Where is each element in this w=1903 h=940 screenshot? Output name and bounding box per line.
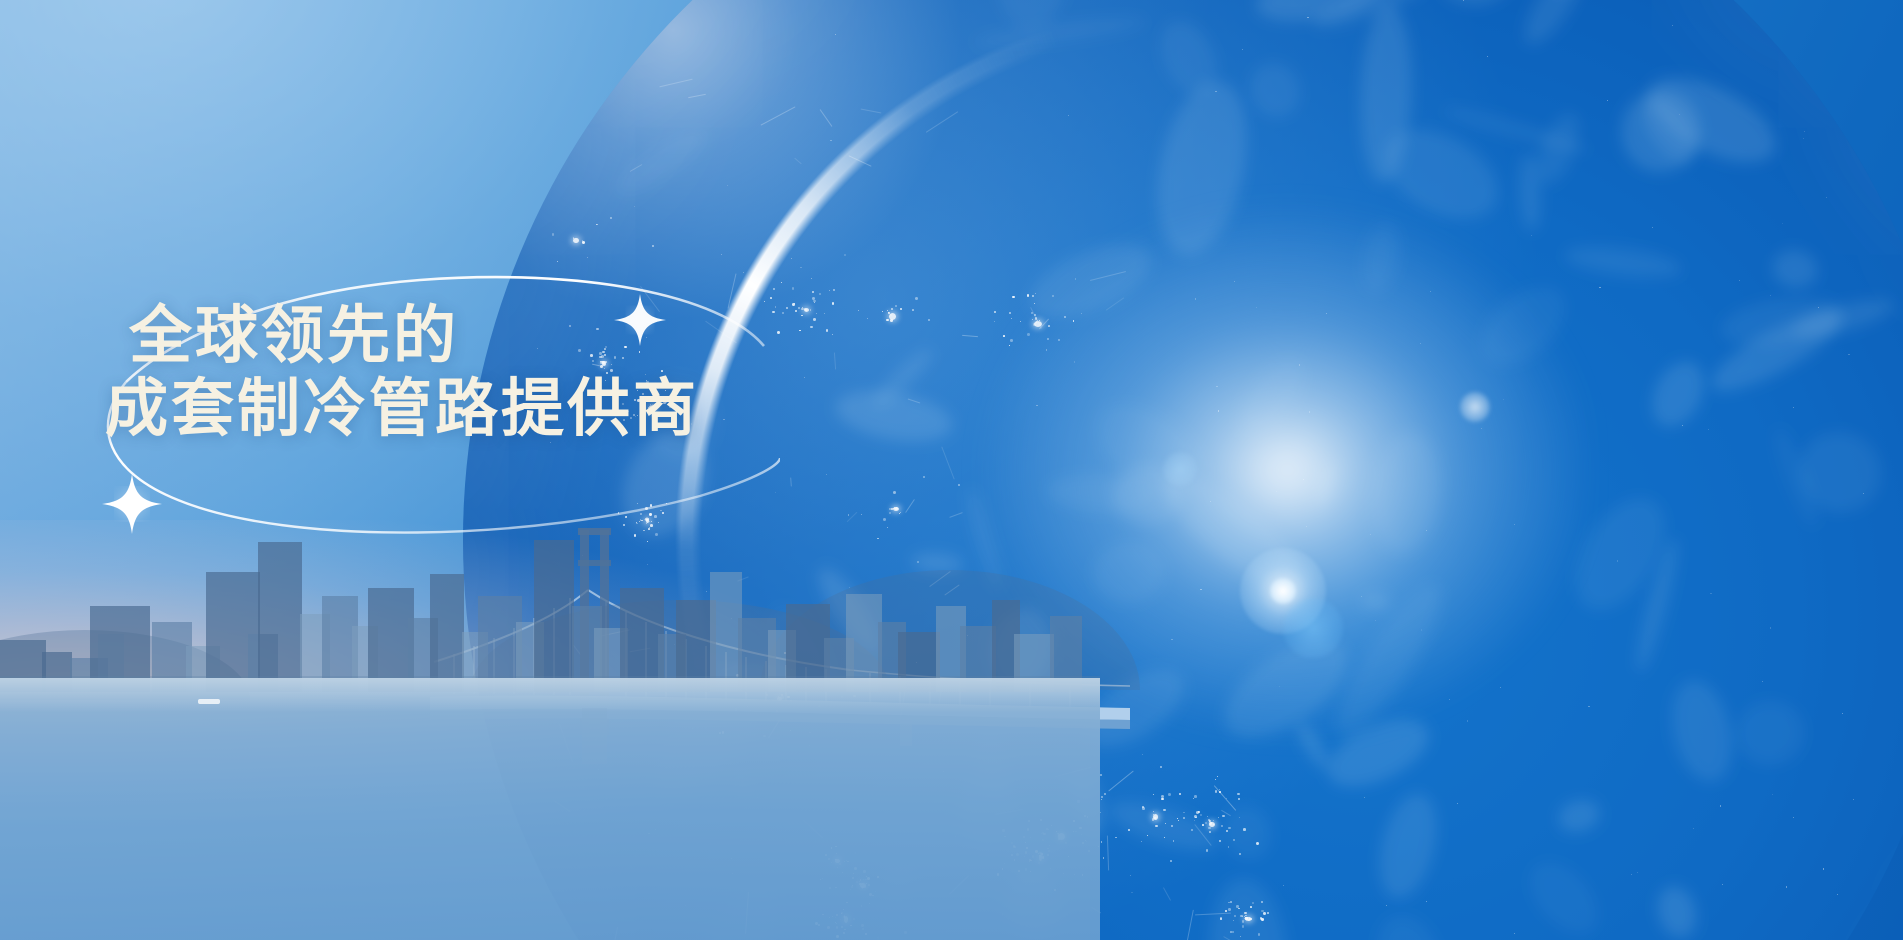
headline-line-2: 成套制冷管路提供商 [105,373,825,446]
headline-line-1: 全球领先的 [129,300,825,373]
hero-banner: 全球领先的 成套制冷管路提供商 [0,0,1903,940]
headline: 全球领先的 成套制冷管路提供商 [105,300,825,446]
sky-gradient-background [0,0,1903,940]
